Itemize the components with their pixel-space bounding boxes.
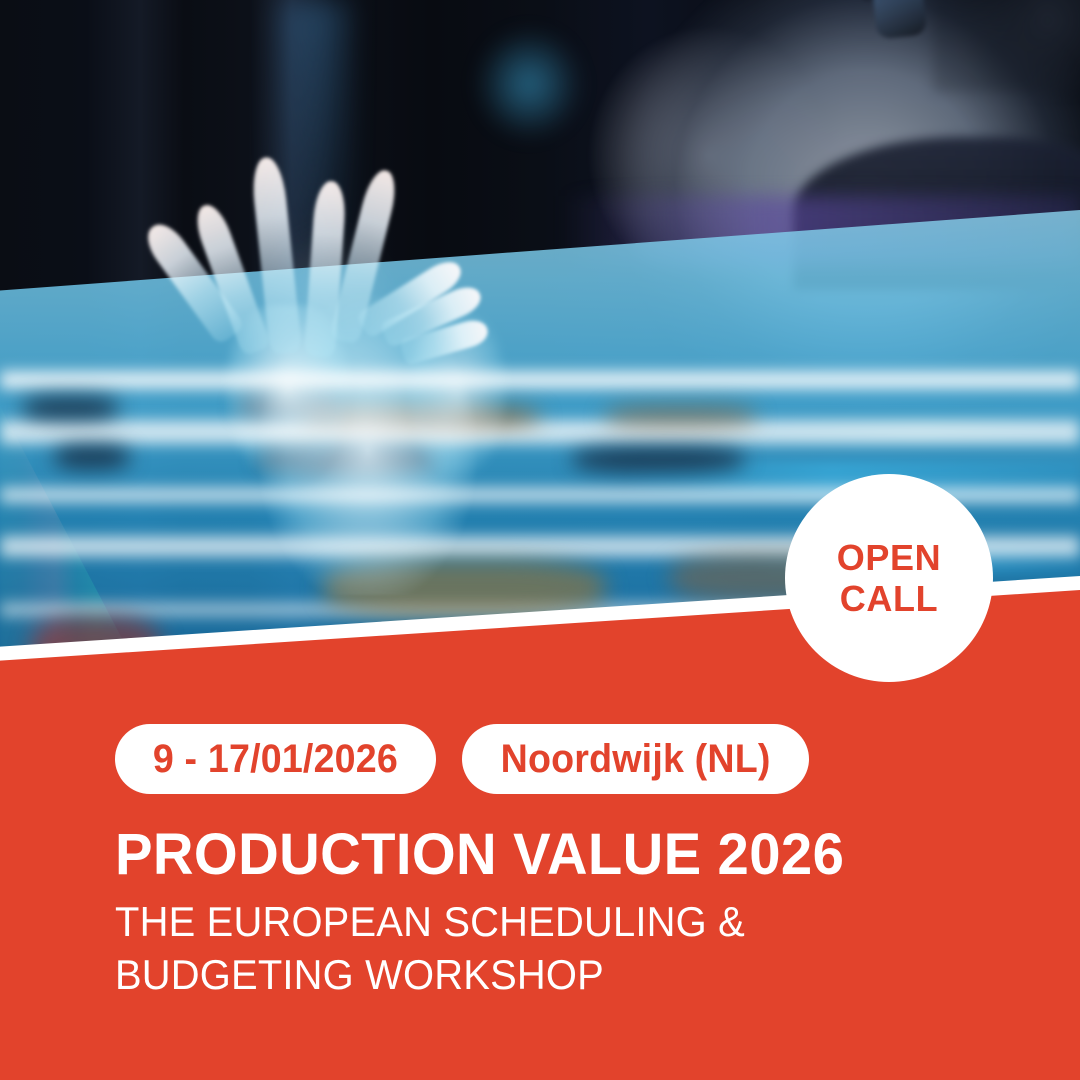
location-pill-label: Noordwijk (NL) (500, 739, 770, 779)
slab-smudge (22, 396, 119, 421)
slab-warm-smudge (605, 406, 756, 427)
poster-canvas: OPEN CALL 9 - 17/01/2026 Noordwijk (NL) … (0, 0, 1080, 1080)
info-pill-group: 9 - 17/01/2026 Noordwijk (NL) (115, 724, 809, 794)
page-title: PRODUCTION VALUE 2026 (115, 826, 978, 884)
person-hair (933, 0, 1080, 92)
date-pill-label: 9 - 17/01/2026 (153, 739, 398, 779)
open-call-line-2: CALL (840, 578, 938, 619)
open-call-badge[interactable]: OPEN CALL (785, 474, 993, 682)
heading-block: PRODUCTION VALUE 2026 THE EUROPEAN SCHED… (115, 826, 1005, 1002)
location-pill[interactable]: Noordwijk (NL) (462, 724, 809, 794)
hand-left (119, 77, 616, 595)
page-subtitle: THE EUROPEAN SCHEDULING & BUDGETING WORK… (115, 896, 894, 1002)
open-call-line-1: OPEN (837, 537, 941, 578)
date-pill[interactable]: 9 - 17/01/2026 (115, 724, 436, 794)
